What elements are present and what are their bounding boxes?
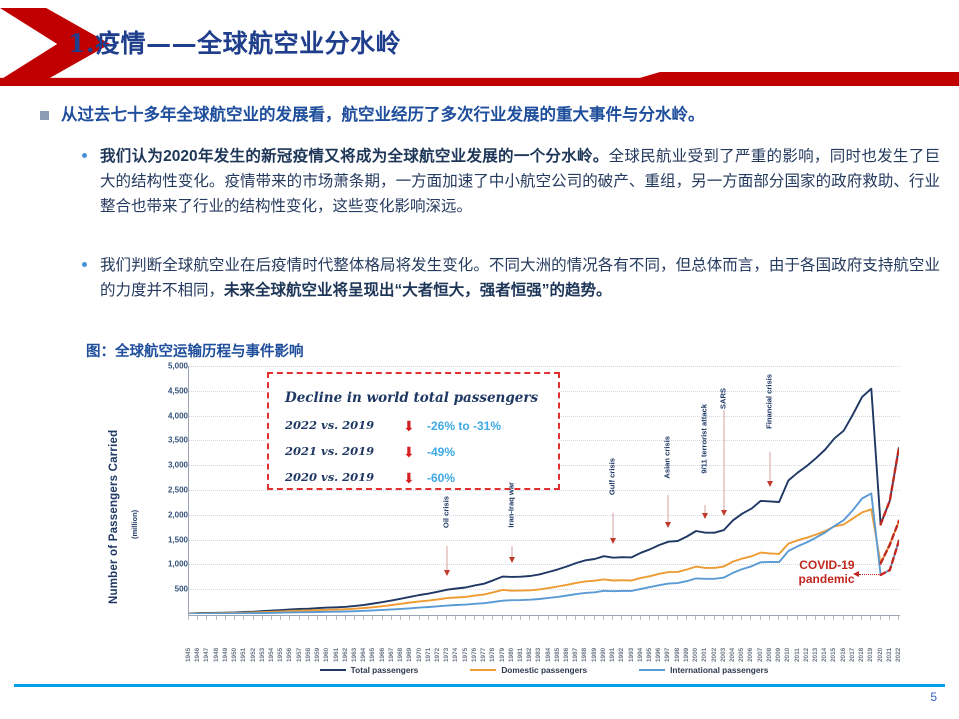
event-annotation: SARS (715, 388, 733, 516)
x-axis-tickmark (225, 616, 226, 620)
level1-bullet: 从过去七十多年全球航空业的发展看，航空业经历了多次行业发展的重大事件与分水岭。 (40, 104, 940, 126)
x-axis-tick: 1993 (628, 634, 635, 662)
event-annotation-stem (723, 410, 724, 510)
page-number: 5 (930, 690, 937, 704)
x-axis-tick: 1968 (397, 634, 404, 662)
x-axis-tickmark (594, 616, 595, 620)
x-axis-tick: 1958 (305, 634, 312, 662)
legend-swatch-international (639, 669, 665, 672)
x-axis-tick: 1982 (526, 634, 533, 662)
x-axis-tickmark (861, 616, 862, 620)
x-axis-tickmark (511, 616, 512, 620)
x-axis-tickmark (658, 616, 659, 620)
x-axis-tickmark (631, 616, 632, 620)
x-axis-tick: 1959 (314, 634, 321, 662)
x-axis-tickmark (677, 616, 678, 620)
x-axis-tickmark (741, 616, 742, 620)
x-axis-tickmark (538, 616, 539, 620)
x-axis-tickmark (566, 616, 567, 620)
x-axis-tickmark (437, 616, 438, 620)
event-annotation-stem (705, 505, 706, 513)
y-axis-tick: 500 (146, 585, 188, 594)
x-axis-tickmark (280, 616, 281, 620)
x-axis-tick: 1978 (489, 634, 496, 662)
event-annotation-label: Gulf crisis (609, 458, 618, 495)
square-bullet-icon (40, 111, 49, 120)
x-axis-tick: 1961 (333, 634, 340, 662)
covid-label-line: pandemic (751, 573, 855, 587)
x-axis-tickmark (197, 616, 198, 620)
x-axis-tickmark (382, 616, 383, 620)
series-line-international (189, 493, 899, 614)
event-annotation-label: Oil crisis (443, 496, 452, 528)
x-axis-tickmark (824, 616, 825, 620)
x-axis-tickmark (428, 616, 429, 620)
x-axis-tick: 2012 (803, 634, 810, 662)
covid-annotation-label: COVID-19pandemic (751, 559, 855, 587)
decline-period: 2022 vs. 2019 (285, 418, 393, 432)
x-axis-tickmark (419, 616, 420, 620)
x-axis-tickmark (612, 616, 613, 620)
x-axis-tick: 1954 (268, 634, 275, 662)
x-axis-tick: 1972 (434, 634, 441, 662)
x-axis-tickmark (806, 616, 807, 620)
x-axis-tick: 1994 (637, 634, 644, 662)
level2-bullet-2-text: 我们判断全球航空业在后疫情时代整体格局将发生变化。不同大洲的情况各有不同，但总体… (100, 253, 940, 303)
x-axis-tickmark (852, 616, 853, 620)
event-annotation: Oil crisis (438, 496, 456, 576)
x-axis-tickmark (206, 616, 207, 620)
event-annotation-label: Financial crisis (766, 374, 775, 429)
x-axis-tick: 2018 (858, 634, 865, 662)
x-axis-tickmark (548, 616, 549, 620)
dot-bullet-icon (82, 153, 87, 158)
bullet2-bold-tail: 未来全球航空业将呈现出“大者恒大，强者恒强”的趋势。 (224, 282, 612, 299)
event-annotation-label: Asian crisis (664, 436, 673, 479)
y-axis-tick: 4,500 (146, 386, 188, 395)
arrow-down-icon (721, 510, 727, 516)
footer-divider (14, 684, 945, 687)
legend-item-total: Total passengers (320, 665, 419, 675)
x-axis-tickmark (271, 616, 272, 620)
arrow-down-icon (610, 538, 616, 544)
x-axis-tick: 1996 (655, 634, 662, 662)
x-axis-tickmark (557, 616, 558, 620)
legend-item-domestic: Domestic passengers (470, 665, 587, 675)
x-axis-tickmark (308, 616, 309, 620)
decline-period: 2021 vs. 2019 (285, 444, 393, 458)
projection-line-dashed (881, 447, 899, 524)
level1-bullet-text: 从过去七十多年全球航空业的发展看，航空业经历了多次行业发展的重大事件与分水岭。 (61, 104, 705, 126)
x-axis-tick: 1975 (462, 634, 469, 662)
level2-bullet-1-text: 我们认为2020年发生的新冠疫情又将成为全球航空业发展的一个分水岭。全球民航业受… (100, 144, 940, 219)
x-axis-tick: 1956 (286, 634, 293, 662)
x-axis-tickmark (686, 616, 687, 620)
x-axis-tick: 1950 (231, 634, 238, 662)
x-axis-tickmark (465, 616, 466, 620)
x-axis-tickmark (520, 616, 521, 620)
x-axis-tick: 1983 (535, 634, 542, 662)
x-axis-tick: 1979 (499, 634, 506, 662)
level2-bullet-2: 我们判断全球航空业在后疫情时代整体格局将发生变化。不同大洲的情况各有不同，但总体… (82, 253, 940, 303)
x-axis-tickmark (391, 616, 392, 620)
x-axis-tick: 1945 (185, 634, 192, 662)
arrow-down-icon (702, 513, 708, 519)
x-axis-tickmark (262, 616, 263, 620)
y-axis-tick: 3,500 (146, 436, 188, 445)
down-arrow-icon: ⬇ (403, 419, 415, 433)
event-annotation: Gulf crisis (604, 458, 622, 544)
down-arrow-icon: ⬇ (403, 445, 415, 459)
y-axis-tick: 1,500 (146, 535, 188, 544)
x-axis-tickmark (234, 616, 235, 620)
x-axis-tick: 1948 (213, 634, 220, 662)
arrow-down-icon (509, 557, 515, 563)
legend-swatch-total (320, 669, 346, 672)
x-axis-tickmark (880, 616, 881, 620)
event-annotation-stem (447, 546, 448, 570)
x-axis-tickmark (870, 616, 871, 620)
x-axis-tick: 2015 (830, 634, 837, 662)
legend-label-domestic: Domestic passengers (501, 665, 587, 675)
x-axis-tickmark (529, 616, 530, 620)
x-axis-tick: 2017 (849, 634, 856, 662)
page-title: 1.疫情——全球航空业分水岭 (68, 24, 401, 60)
x-axis-tick: 1947 (203, 634, 210, 662)
down-arrow-icon: ⬇ (403, 471, 415, 485)
dot-bullet-icon (82, 262, 87, 267)
x-axis-tick: 1952 (250, 634, 257, 662)
x-axis-tick: 1984 (545, 634, 552, 662)
x-axis-tickmark (299, 616, 300, 620)
decline-value: -26% to -31% (427, 419, 501, 433)
x-axis-tickmark (787, 616, 788, 620)
x-axis-tick: 2009 (775, 634, 782, 662)
x-axis-tickmark (253, 616, 254, 620)
decline-value: -49% (427, 445, 455, 459)
event-annotation-stem (613, 513, 614, 538)
x-axis-tickmark (483, 616, 484, 620)
x-axis-tick: 2016 (840, 634, 847, 662)
figure-caption: 图：全球航空运输历程与事件影响 (86, 340, 304, 361)
x-axis-tickmark (336, 616, 337, 620)
x-axis-tickmark (575, 616, 576, 620)
x-axis-tick: 2001 (701, 634, 708, 662)
x-axis-tickmark (695, 616, 696, 620)
event-annotation-label: Iran-Iraq war (507, 482, 516, 528)
x-axis-tick: 2006 (747, 634, 754, 662)
x-axis-tick: 1955 (277, 634, 284, 662)
x-axis-tick: 1965 (369, 634, 376, 662)
chart-plot-area: Decline in world total passengers 2022 v… (188, 366, 900, 616)
x-axis-tickmark (216, 616, 217, 620)
legend-label-international: International passengers (670, 665, 768, 675)
x-axis-tick: 1957 (296, 634, 303, 662)
x-axis-tickmark (326, 616, 327, 620)
x-axis-tickmark (289, 616, 290, 620)
x-axis-tick: 1999 (683, 634, 690, 662)
passenger-traffic-chart: Number of Passengers Carried (million) 5… (112, 366, 912, 676)
x-axis-tick: 2004 (729, 634, 736, 662)
decline-value: -60% (427, 471, 455, 485)
decline-period: 2020 vs. 2019 (285, 470, 393, 484)
x-axis-tick: 1953 (259, 634, 266, 662)
bullet1-bold-lead: 我们认为2020年发生的新冠疫情又将成为全球航空业发展的一个分水岭。 (100, 148, 609, 165)
x-axis-tickmark (769, 616, 770, 620)
x-axis-tick: 1963 (351, 634, 358, 662)
x-axis-tickmark (502, 616, 503, 620)
x-axis-tick: 2008 (766, 634, 773, 662)
x-axis-tickmark (492, 616, 493, 620)
x-axis-tickmark (889, 616, 890, 620)
x-axis-tick: 1973 (443, 634, 450, 662)
x-axis-tickmark (372, 616, 373, 620)
x-axis-tickmark (446, 616, 447, 620)
x-axis-tick: 1967 (388, 634, 395, 662)
event-annotation-stem (668, 495, 669, 522)
x-axis-tick: 2022 (895, 634, 902, 662)
legend-item-international: International passengers (639, 665, 768, 675)
x-axis-tick: 1969 (406, 634, 413, 662)
x-axis-tick: 1949 (222, 634, 229, 662)
x-axis-tick: 1960 (323, 634, 330, 662)
x-axis-tick: 1964 (360, 634, 367, 662)
x-axis-tickmark (345, 616, 346, 620)
x-axis-ticks: 1945194619471948194919501951195219531954… (188, 616, 900, 662)
x-axis-tick: 2014 (821, 634, 828, 662)
x-axis-tick: 1946 (194, 634, 201, 662)
x-axis-tickmark (760, 616, 761, 620)
x-axis-tickmark (621, 616, 622, 620)
x-axis-tick: 1986 (563, 634, 570, 662)
x-axis-tickmark (778, 616, 779, 620)
event-annotation: 9/11 terrorist attack (696, 404, 714, 519)
x-axis-tick: 1991 (609, 634, 616, 662)
x-axis-tickmark (474, 616, 475, 620)
y-axis-tick: 1,000 (146, 560, 188, 569)
x-axis-tick: 1995 (646, 634, 653, 662)
x-axis-tickmark (843, 616, 844, 620)
x-axis-tickmark (732, 616, 733, 620)
x-axis-tickmark (354, 616, 355, 620)
level2-bullet-1: 我们认为2020年发生的新冠疫情又将成为全球航空业发展的一个分水岭。全球民航业受… (82, 144, 940, 219)
x-axis-tick: 1998 (674, 634, 681, 662)
x-axis-tickmark (797, 616, 798, 620)
x-axis-tick: 1981 (517, 634, 524, 662)
x-axis-tickmark (455, 616, 456, 620)
x-axis-tick: 2002 (711, 634, 718, 662)
y-axis-tick: 2,500 (146, 486, 188, 495)
x-axis-tickmark (704, 616, 705, 620)
x-axis-tick: 1990 (600, 634, 607, 662)
decline-callout-box: Decline in world total passengers 2022 v… (267, 372, 560, 490)
x-axis-tickmark (833, 616, 834, 620)
x-axis-tickmark (640, 616, 641, 620)
event-annotation: Iran-Iraq war (503, 482, 521, 563)
x-axis-tickmark (649, 616, 650, 620)
x-axis-tickmark (815, 616, 816, 620)
legend-label-total: Total passengers (351, 665, 419, 675)
x-axis-tickmark (188, 616, 189, 620)
y-axis-tick: 5,000 (146, 362, 188, 371)
x-axis-tick: 1980 (508, 634, 515, 662)
x-axis-tick: 1974 (452, 634, 459, 662)
x-axis-tick: 1962 (342, 634, 349, 662)
chart-legend: Total passengers Domestic passengers Int… (188, 662, 900, 678)
x-axis-tick: 1951 (240, 634, 247, 662)
slide-header: 1.疫情——全球航空业分水岭 (0, 0, 959, 88)
legend-swatch-domestic (470, 669, 496, 672)
covid-annotation-arrow (859, 574, 881, 575)
arrow-down-icon (665, 522, 671, 528)
x-axis-tickmark (400, 616, 401, 620)
event-annotation-label: 9/11 terrorist attack (701, 404, 710, 474)
x-axis-tick: 1997 (664, 634, 671, 662)
arrow-down-icon (444, 570, 450, 576)
x-axis-tick: 2013 (812, 634, 819, 662)
y-axis-ticks: 5,0004,5004,0003,5003,0002,5002,0001,500… (112, 366, 188, 616)
x-axis-tick: 1970 (416, 634, 423, 662)
x-axis-tick: 1988 (581, 634, 588, 662)
x-axis-tickmark (243, 616, 244, 620)
x-axis-tickmark (723, 616, 724, 620)
x-axis-tick: 2021 (886, 634, 893, 662)
x-axis-tickmark (714, 616, 715, 620)
x-axis-tick: 1971 (425, 634, 432, 662)
y-axis-tick: 2,000 (146, 510, 188, 519)
y-axis-tick: 4,000 (146, 411, 188, 420)
x-axis-tick: 1987 (572, 634, 579, 662)
covid-label-line: COVID-19 (751, 559, 855, 573)
x-axis-tick: 1966 (379, 634, 386, 662)
x-axis-tick: 2011 (794, 634, 801, 662)
x-axis-tickmark (750, 616, 751, 620)
y-axis-tick: 3,000 (146, 461, 188, 470)
decline-callout-title: Decline in world total passengers (285, 390, 538, 406)
x-axis-tickmark (603, 616, 604, 620)
x-axis-tickmark (584, 616, 585, 620)
header-red-band (0, 72, 959, 86)
x-axis-tickmark (667, 616, 668, 620)
event-annotation: Asian crisis (659, 436, 677, 528)
x-axis-tick: 1992 (618, 634, 625, 662)
event-annotation: Financial crisis (761, 374, 779, 487)
covid-arrow-head-icon (853, 571, 859, 577)
x-axis-tickmark (898, 616, 899, 620)
event-annotation-stem (511, 546, 512, 557)
x-axis-tick: 2005 (738, 634, 745, 662)
x-axis-tick: 2010 (784, 634, 791, 662)
x-axis-tick: 1989 (591, 634, 598, 662)
x-axis-tick: 2020 (877, 634, 884, 662)
x-axis-tick: 1977 (480, 634, 487, 662)
x-axis-tick: 2003 (720, 634, 727, 662)
arrow-down-icon (767, 481, 773, 487)
event-annotation-label: SARS (719, 388, 728, 409)
event-annotation-stem (769, 452, 770, 482)
x-axis-tick: 2000 (692, 634, 699, 662)
x-axis-tick: 2019 (867, 634, 874, 662)
x-axis-tick: 1985 (554, 634, 561, 662)
x-axis-tickmark (317, 616, 318, 620)
x-axis-tick: 2007 (757, 634, 764, 662)
x-axis-tick: 1976 (471, 634, 478, 662)
x-axis-tickmark (409, 616, 410, 620)
x-axis-tickmark (363, 616, 364, 620)
